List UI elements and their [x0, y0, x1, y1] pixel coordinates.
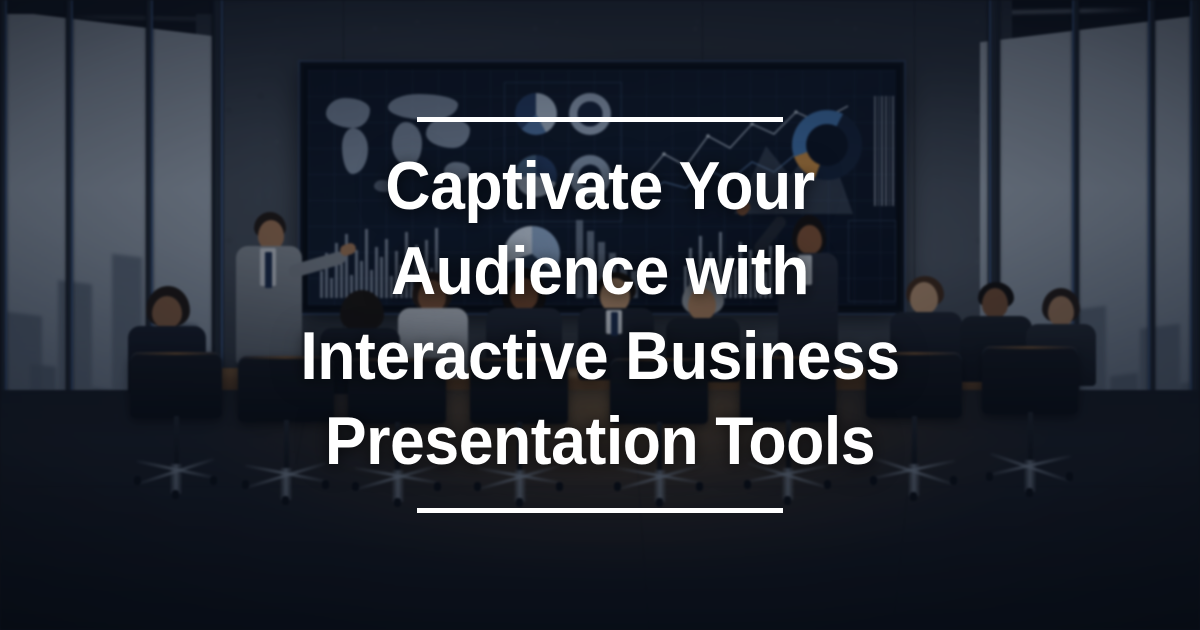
headline-overlay: Captivate Your Audience with Interactive…	[0, 0, 1200, 630]
hero-banner: Captivate Your Audience with Interactive…	[0, 0, 1200, 630]
page-title: Captivate Your Audience with Interactive…	[149, 144, 1051, 484]
top-divider	[417, 117, 783, 122]
bottom-divider	[417, 508, 783, 513]
